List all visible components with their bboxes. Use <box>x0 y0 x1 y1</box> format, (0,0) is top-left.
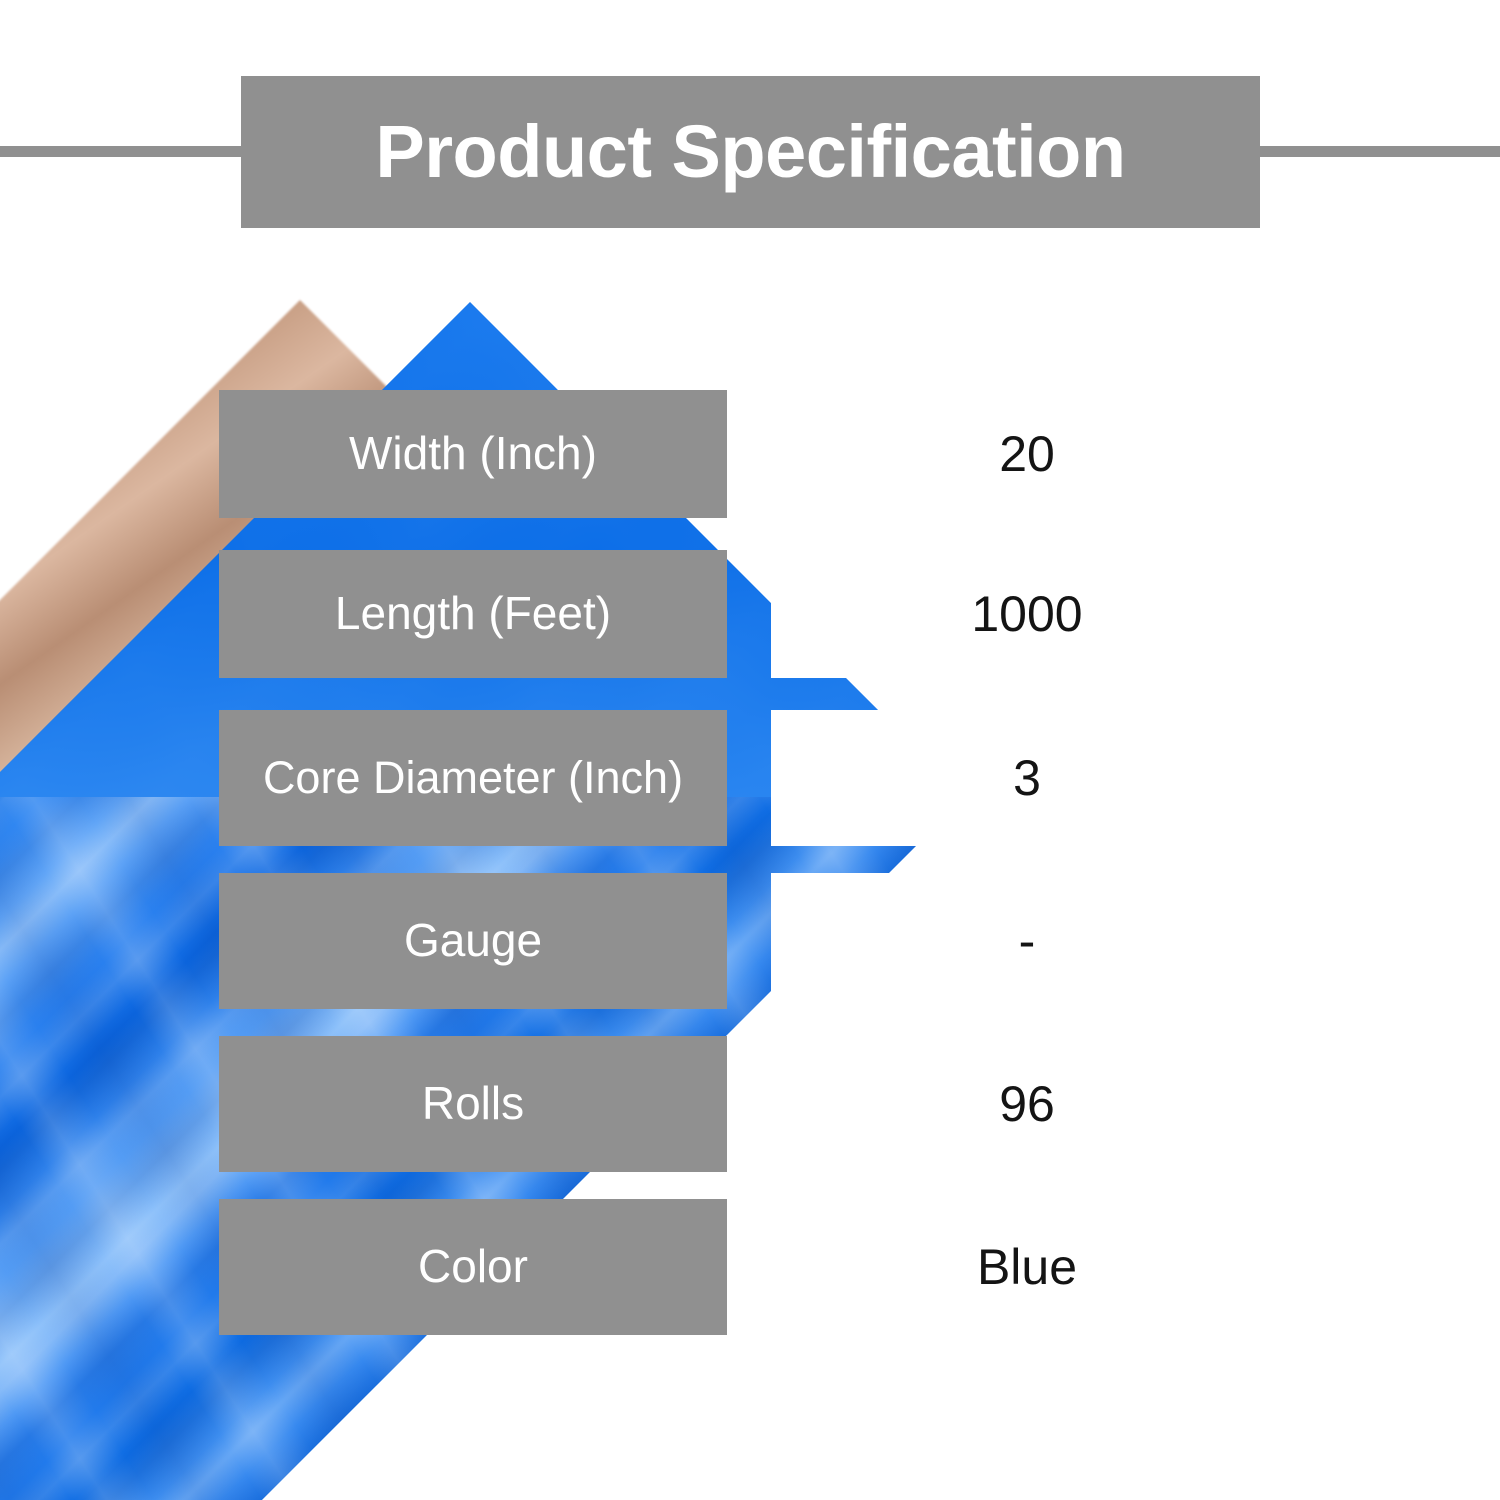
spec-row-length: Length (Feet) 1000 <box>219 550 1283 678</box>
header-banner: Product Specification <box>241 76 1260 228</box>
spec-value-width: 20 <box>771 390 1283 518</box>
spec-value-color: Blue <box>771 1199 1283 1335</box>
spec-value-core-diameter: 3 <box>771 710 1283 846</box>
spec-label-rolls: Rolls <box>219 1036 727 1172</box>
spec-row-gauge: Gauge - <box>219 873 1283 1009</box>
header-rule-left <box>0 146 250 157</box>
spec-row-gap <box>727 710 771 846</box>
spec-row-width: Width (Inch) 20 <box>219 390 1283 518</box>
header-rule-right <box>1250 146 1500 157</box>
spec-label-width: Width (Inch) <box>219 390 727 518</box>
spec-row-gap <box>727 1199 771 1335</box>
product-specification-card: Product Specification Width (Inch) 20 Le… <box>0 0 1500 1500</box>
spec-row-rolls: Rolls 96 <box>219 1036 1283 1172</box>
spec-value-rolls: 96 <box>771 1036 1283 1172</box>
page-title: Product Specification <box>375 115 1125 189</box>
spec-row-gap <box>727 390 771 518</box>
spec-row-gap <box>727 1036 771 1172</box>
spec-label-gauge: Gauge <box>219 873 727 1009</box>
spec-row-gap <box>727 550 771 678</box>
spec-row-gap <box>727 873 771 1009</box>
spec-value-gauge: - <box>771 873 1283 1009</box>
spec-label-core-diameter: Core Diameter (Inch) <box>219 710 727 846</box>
spec-label-color: Color <box>219 1199 727 1335</box>
spec-value-length: 1000 <box>771 550 1283 678</box>
spec-row-core-diameter: Core Diameter (Inch) 3 <box>219 710 1283 846</box>
spec-label-length: Length (Feet) <box>219 550 727 678</box>
spec-row-color: Color Blue <box>219 1199 1283 1335</box>
